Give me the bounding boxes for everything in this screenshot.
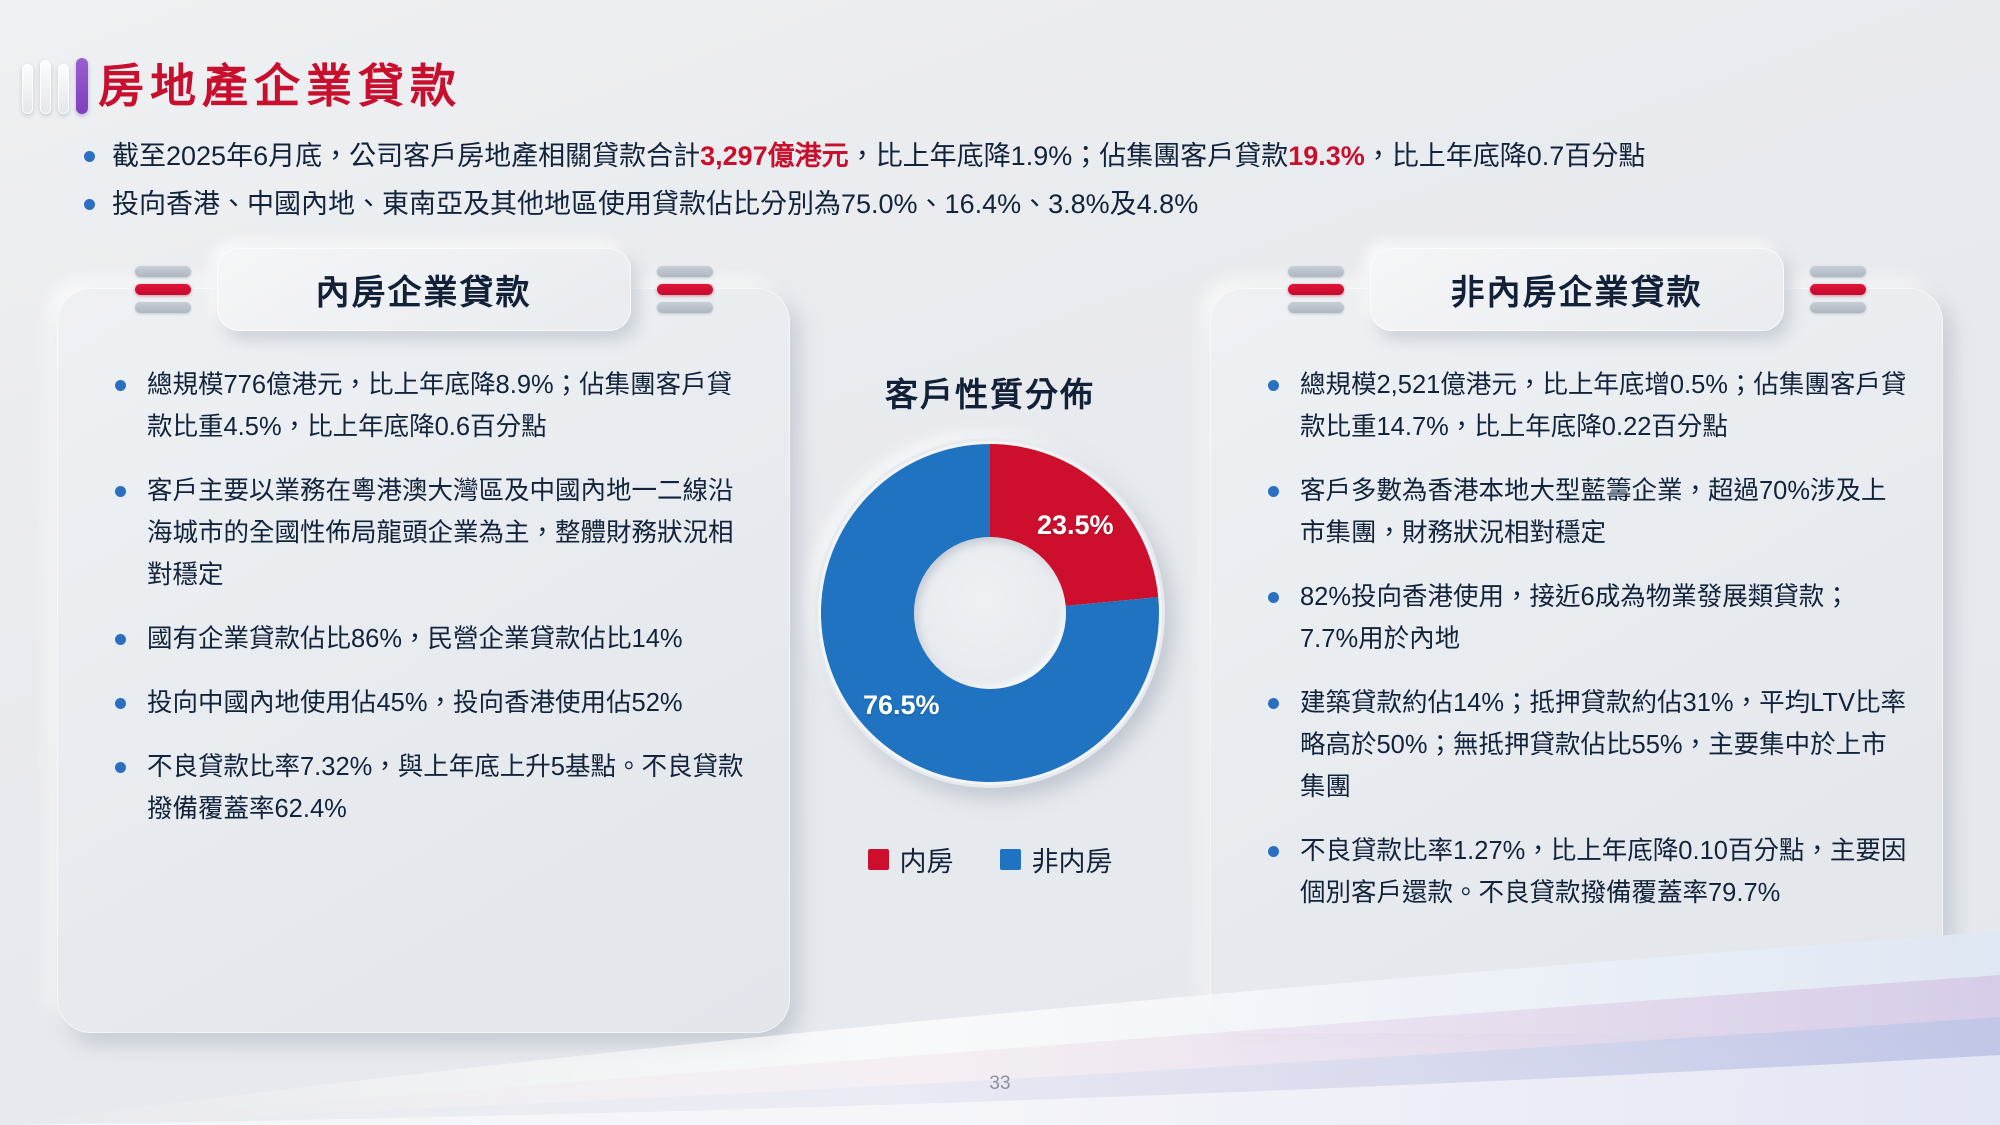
- title-bar-accent-icon: [76, 58, 88, 114]
- customer-nature-distribution-chart: 客戶性質分佈 23.5% 76.5% 内房 非内房: [770, 288, 1210, 988]
- page-number: 33: [0, 1073, 2000, 1095]
- left-panel-bullet-text: 國有企業貸款佔比86%，民營企業貸款佔比14%: [147, 625, 683, 653]
- title-bar-3-icon: [58, 64, 69, 114]
- slide-canvas: 房地產企業貸款 截至2025年6月底，公司客戶房地產相關貸款合計3,297億港元…: [0, 0, 2000, 1125]
- right-panel-badge: 非內房企業貸款: [1370, 248, 1784, 331]
- left-panel-bullet-text: 投向中國內地使用佔45%，投向香港使用佔52%: [147, 689, 683, 717]
- equals-bar-gray-icon: [135, 302, 191, 313]
- equals-bar-gray-icon: [1288, 266, 1344, 277]
- left-panel-bullet: 客戶主要以業務在粵港澳大灣區及中國內地一二線沿海城市的全國性佈局龍頭企業為主，整…: [103, 470, 754, 596]
- bullet-text-segment: 投向香港、中國內地、東南亞及其他地區使用貸款佔比分別為75.0%、16.4%、3…: [112, 189, 1198, 219]
- equals-bar-red-icon: [135, 284, 191, 295]
- equals-bar-gray-icon: [657, 302, 713, 313]
- bullet-dot-icon: [1268, 698, 1279, 709]
- page-title: 房地產企業貸款: [98, 56, 462, 116]
- equals-bar-gray-icon: [1810, 302, 1866, 313]
- equals-bar-gray-icon: [657, 266, 713, 277]
- left-panel-bullet-list: 總規模776億港元，比上年底降8.9%；佔集團客戶貸款比重4.5%，比上年底降0…: [103, 364, 754, 852]
- title-bars-decoration: [22, 58, 88, 114]
- legend-item-domestic[interactable]: 内房: [868, 840, 954, 879]
- legend-swatch-non-domestic-icon: [1000, 849, 1021, 870]
- right-panel-bullet-list: 總規模2,521億港元，比上年底增0.5%；佔集團客戶貸款比重14.7%，比上年…: [1256, 364, 1907, 936]
- legend-swatch-domestic-icon: [868, 849, 889, 870]
- top-bullet-2: 投向香港、中國內地、東南亞及其他地區使用貸款佔比分別為75.0%、16.4%、3…: [76, 180, 1956, 228]
- equals-mark-left-icon: [1288, 266, 1344, 313]
- left-panel-bullet: 不良貸款比率7.32%，與上年底上升5基點。不良貸款撥備覆蓋率62.4%: [103, 746, 754, 830]
- equals-bar-red-icon: [657, 284, 713, 295]
- bullet-dot-icon: [84, 199, 95, 210]
- right-panel-bullet-text: 總規模2,521億港元，比上年底增0.5%；佔集團客戶貸款比重14.7%，比上年…: [1300, 371, 1906, 441]
- legend-item-non-domestic[interactable]: 非内房: [1000, 840, 1113, 879]
- left-panel-bullet: 國有企業貸款佔比86%，民營企業貸款佔比14%: [103, 618, 754, 660]
- emphasis-value: 3,297億港元: [700, 141, 849, 171]
- equals-mark-left-icon: [135, 266, 191, 313]
- legend-label-domestic: 内房: [900, 840, 954, 879]
- right-panel-bullet: 總規模2,521億港元，比上年底增0.5%；佔集團客戶貸款比重14.7%，比上年…: [1256, 364, 1907, 448]
- bullet-dot-icon: [1268, 592, 1279, 603]
- right-panel-bullet-text: 客戶多數為香港本地大型藍籌企業，超過70%涉及上市集團，財務狀況相對穩定: [1300, 477, 1887, 547]
- top-bullet-list: 截至2025年6月底，公司客戶房地產相關貸款合計3,297億港元，比上年底降1.…: [76, 132, 1956, 228]
- equals-bar-red-icon: [1288, 284, 1344, 295]
- bullet-dot-icon: [115, 698, 126, 709]
- equals-bar-gray-icon: [135, 266, 191, 277]
- right-panel-badge-row: 非內房企業貸款: [1288, 248, 1866, 331]
- bullet-dot-icon: [1268, 486, 1279, 497]
- equals-mark-right-icon: [657, 266, 713, 313]
- bullet-dot-icon: [1268, 380, 1279, 391]
- panel-non-domestic-property-loans: 非內房企業貸款 總規模2,521億港元，比上年底增0.5%；佔集團客戶貸款比重1…: [1210, 288, 1943, 1033]
- right-panel-bullet-text: 建築貸款約佔14%；抵押貸款約佔31%，平均LTV比率略高於50%；無抵押貸款佔…: [1300, 689, 1906, 801]
- bullet-text-segment: ，比上年底降1.9%；佔集團客戶貸款: [849, 141, 1289, 171]
- equals-bar-gray-icon: [1288, 302, 1344, 313]
- bullet-dot-icon: [1268, 846, 1279, 857]
- title-bar-2-icon: [40, 60, 51, 114]
- right-panel-bullet: 建築貸款約佔14%；抵押貸款約佔31%，平均LTV比率略高於50%；無抵押貸款佔…: [1256, 682, 1907, 808]
- right-panel-bullet: 客戶多數為香港本地大型藍籌企業，超過70%涉及上市集團，財務狀況相對穩定: [1256, 470, 1907, 554]
- bullet-dot-icon: [115, 486, 126, 497]
- right-panel-bullet-text: 不良貸款比率1.27%，比上年底降0.10百分點，主要因個別客戶還款。不良貸款撥…: [1300, 837, 1906, 907]
- left-panel-bullet-text: 總規模776億港元，比上年底降8.9%；佔集團客戶貸款比重4.5%，比上年底降0…: [147, 371, 732, 441]
- title-bar-1-icon: [22, 64, 33, 114]
- left-panel-bullet-text: 不良貸款比率7.32%，與上年底上升5基點。不良貸款撥備覆蓋率62.4%: [147, 753, 744, 823]
- donut-chart: 23.5% 76.5%: [815, 438, 1165, 788]
- slide-header: 房地產企業貸款: [0, 28, 2000, 118]
- bullet-dot-icon: [84, 151, 95, 162]
- left-panel-badge-row: 內房企業貸款: [135, 248, 713, 331]
- top-bullet-1: 截至2025年6月底，公司客戶房地產相關貸款合計3,297億港元，比上年底降1.…: [76, 132, 1956, 180]
- left-panel-badge: 內房企業貸款: [217, 248, 631, 331]
- top-bullet-2-text: 投向香港、中國內地、東南亞及其他地區使用貸款佔比分別為75.0%、16.4%、3…: [112, 189, 1198, 219]
- right-panel-bullet: 82%投向香港使用，接近6成為物業發展類貸款；7.7%用於內地: [1256, 576, 1907, 660]
- bullet-text-segment: ，比上年底降0.7百分點: [1365, 141, 1646, 171]
- bullet-dot-icon: [115, 380, 126, 391]
- top-bullet-1-text: 截至2025年6月底，公司客戶房地產相關貸款合計3,297億港元，比上年底降1.…: [112, 141, 1645, 171]
- equals-bar-gray-icon: [1810, 266, 1866, 277]
- left-panel-bullet: 投向中國內地使用佔45%，投向香港使用佔52%: [103, 682, 754, 724]
- chart-title: 客戶性質分佈: [770, 368, 1210, 416]
- left-panel-bullet-text: 客戶主要以業務在粵港澳大灣區及中國內地一二線沿海城市的全國性佈局龍頭企業為主，整…: [147, 477, 734, 589]
- bullet-dot-icon: [115, 634, 126, 645]
- emphasis-value: 19.3%: [1288, 141, 1365, 171]
- right-panel-bullet-text: 82%投向香港使用，接近6成為物業發展類貸款；7.7%用於內地: [1300, 583, 1850, 653]
- right-panel-bullet: 不良貸款比率1.27%，比上年底降0.10百分點，主要因個別客戶還款。不良貸款撥…: [1256, 830, 1907, 914]
- left-panel-bullet: 總規模776億港元，比上年底降8.9%；佔集團客戶貸款比重4.5%，比上年底降0…: [103, 364, 754, 448]
- bullet-text-segment: 截至2025年6月底，公司客戶房地產相關貸款合計: [112, 141, 700, 171]
- donut-hole: [914, 537, 1066, 689]
- chart-legend: 内房 非内房: [770, 840, 1210, 879]
- slice-label-non-domestic: 76.5%: [863, 690, 940, 721]
- legend-label-non-domestic: 非内房: [1032, 840, 1113, 879]
- equals-mark-right-icon: [1810, 266, 1866, 313]
- panel-domestic-property-loans: 內房企業貸款 總規模776億港元，比上年底降8.9%；佔集團客戶貸款比重4.5%…: [57, 288, 790, 1033]
- slice-label-domestic: 23.5%: [1037, 510, 1114, 541]
- equals-bar-red-icon: [1810, 284, 1866, 295]
- bullet-dot-icon: [115, 762, 126, 773]
